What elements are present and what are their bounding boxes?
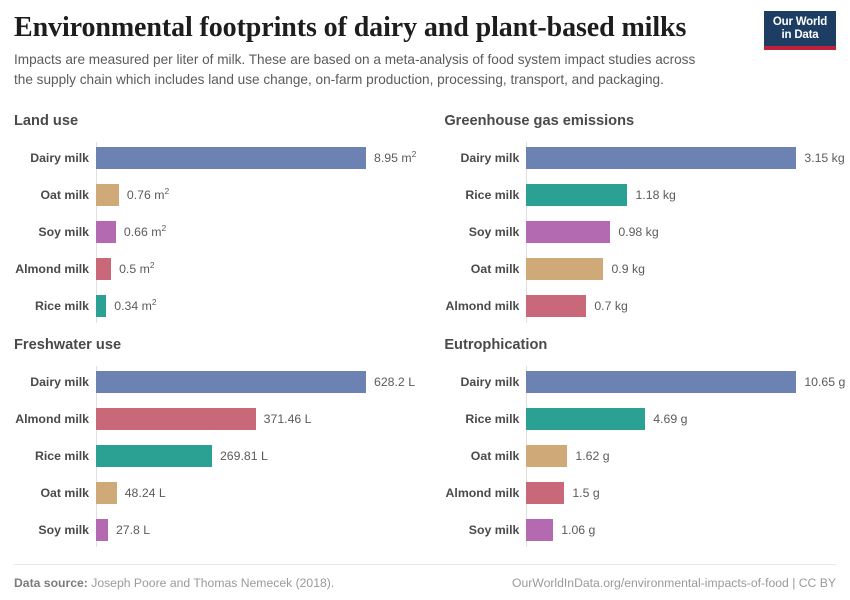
- bar-row[interactable]: Oat milk0.9 kg: [526, 251, 845, 288]
- category-label: Rice milk: [319, 188, 519, 202]
- category-label: Rice milk: [0, 449, 89, 463]
- panel-title: Greenhouse gas emissions: [444, 113, 845, 131]
- bar-value-label: 1.06 g: [561, 523, 595, 537]
- bar[interactable]: [96, 445, 212, 467]
- data-source-label: Data source:: [14, 576, 88, 590]
- bar[interactable]: [526, 221, 610, 243]
- bar-row[interactable]: Rice milk4.69 g: [526, 401, 845, 438]
- bar[interactable]: [526, 519, 553, 541]
- category-label: Dairy milk: [319, 375, 519, 389]
- category-label: Oat milk: [319, 449, 519, 463]
- bar[interactable]: [96, 519, 108, 541]
- bar-rows: Dairy milk10.65 gRice milk4.69 gOat milk…: [444, 364, 845, 549]
- bar-value-label: 371.46 L: [264, 412, 312, 426]
- panel-title: Eutrophication: [444, 337, 845, 355]
- page-title: Environmental footprints of dairy and pl…: [14, 12, 836, 43]
- logo-line-1: Our World: [768, 16, 832, 29]
- bar-value-label: 0.66 m2: [124, 225, 166, 239]
- attribution-link[interactable]: OurWorldInData.org/environmental-impacts…: [512, 576, 836, 590]
- bar[interactable]: [526, 408, 645, 430]
- charts-grid: Land useDairy milk8.95 m2Oat milk0.76 m2…: [14, 113, 836, 561]
- bar-value-label: 0.5 m2: [119, 262, 155, 276]
- category-label: Almond milk: [319, 299, 519, 313]
- category-label: Soy milk: [0, 225, 89, 239]
- data-source-text: Joseph Poore and Thomas Nemecek (2018).: [91, 576, 334, 590]
- bar[interactable]: [526, 445, 567, 467]
- bar-value-label: 269.81 L: [220, 449, 268, 463]
- our-world-in-data-logo[interactable]: Our World in Data: [764, 11, 836, 50]
- bar-value-label: 0.76 m2: [127, 188, 169, 202]
- bar[interactable]: [96, 258, 111, 280]
- bar[interactable]: [526, 295, 586, 317]
- bar-row[interactable]: Almond milk0.7 kg: [526, 288, 845, 325]
- page-subtitle: Impacts are measured per liter of milk. …: [14, 50, 714, 89]
- bar-value-label: 27.8 L: [116, 523, 150, 537]
- bar-row[interactable]: Soy milk1.06 g: [526, 512, 845, 549]
- bar[interactable]: [96, 482, 117, 504]
- bar-value-label: 1.5 g: [572, 486, 599, 500]
- bar[interactable]: [96, 184, 119, 206]
- bar-value-label: 0.9 kg: [611, 262, 645, 276]
- bar-value-label: 3.15 kg: [804, 151, 844, 165]
- panel-title: Land use: [14, 113, 416, 131]
- bar[interactable]: [526, 147, 796, 169]
- bar-row[interactable]: Dairy milk10.65 g: [526, 364, 845, 401]
- category-label: Soy milk: [319, 225, 519, 239]
- bar[interactable]: [96, 221, 116, 243]
- bar-value-label: 4.69 g: [653, 412, 687, 426]
- bar-row[interactable]: Soy milk0.98 kg: [526, 214, 845, 251]
- chart-page: Environmental footprints of dairy and pl…: [0, 0, 850, 600]
- logo-line-2: in Data: [768, 29, 832, 42]
- category-label: Dairy milk: [0, 375, 89, 389]
- category-label: Oat milk: [319, 262, 519, 276]
- category-label: Almond milk: [0, 412, 89, 426]
- category-label: Almond milk: [0, 262, 89, 276]
- category-label: Dairy milk: [319, 151, 519, 165]
- bar[interactable]: [526, 184, 627, 206]
- bar-row[interactable]: Oat milk1.62 g: [526, 438, 845, 475]
- chart-panel-greenhouse-gas-emissions: Greenhouse gas emissionsDairy milk3.15 k…: [444, 113, 845, 337]
- category-label: Almond milk: [319, 486, 519, 500]
- bar-row[interactable]: Rice milk1.18 kg: [526, 177, 845, 214]
- bar-value-label: 48.24 L: [125, 486, 166, 500]
- bar-value-label: 1.62 g: [575, 449, 609, 463]
- bar[interactable]: [526, 258, 603, 280]
- category-label: Soy milk: [319, 523, 519, 537]
- bar-value-label: 1.18 kg: [635, 188, 675, 202]
- panel-title: Freshwater use: [14, 337, 416, 355]
- bar-value-label: 0.34 m2: [114, 299, 156, 313]
- bar[interactable]: [526, 482, 564, 504]
- bar-row[interactable]: Dairy milk3.15 kg: [526, 140, 845, 177]
- data-source: Data source: Joseph Poore and Thomas Nem…: [14, 576, 334, 590]
- bar[interactable]: [96, 408, 256, 430]
- category-label: Dairy milk: [0, 151, 89, 165]
- bar-row[interactable]: Almond milk1.5 g: [526, 475, 845, 512]
- category-label: Rice milk: [0, 299, 89, 313]
- chart-footer: Data source: Joseph Poore and Thomas Nem…: [14, 564, 836, 590]
- chart-header: Environmental footprints of dairy and pl…: [14, 0, 836, 89]
- category-label: Rice milk: [319, 412, 519, 426]
- bar[interactable]: [526, 371, 796, 393]
- bar[interactable]: [96, 295, 106, 317]
- bar-value-label: 0.7 kg: [594, 299, 628, 313]
- bar-rows: Dairy milk3.15 kgRice milk1.18 kgSoy mil…: [444, 140, 845, 325]
- category-label: Soy milk: [0, 523, 89, 537]
- chart-panel-eutrophication: EutrophicationDairy milk10.65 gRice milk…: [444, 337, 845, 561]
- category-label: Oat milk: [0, 188, 89, 202]
- bar-value-label: 0.98 kg: [618, 225, 658, 239]
- bar-value-label: 10.65 g: [804, 375, 845, 389]
- category-label: Oat milk: [0, 486, 89, 500]
